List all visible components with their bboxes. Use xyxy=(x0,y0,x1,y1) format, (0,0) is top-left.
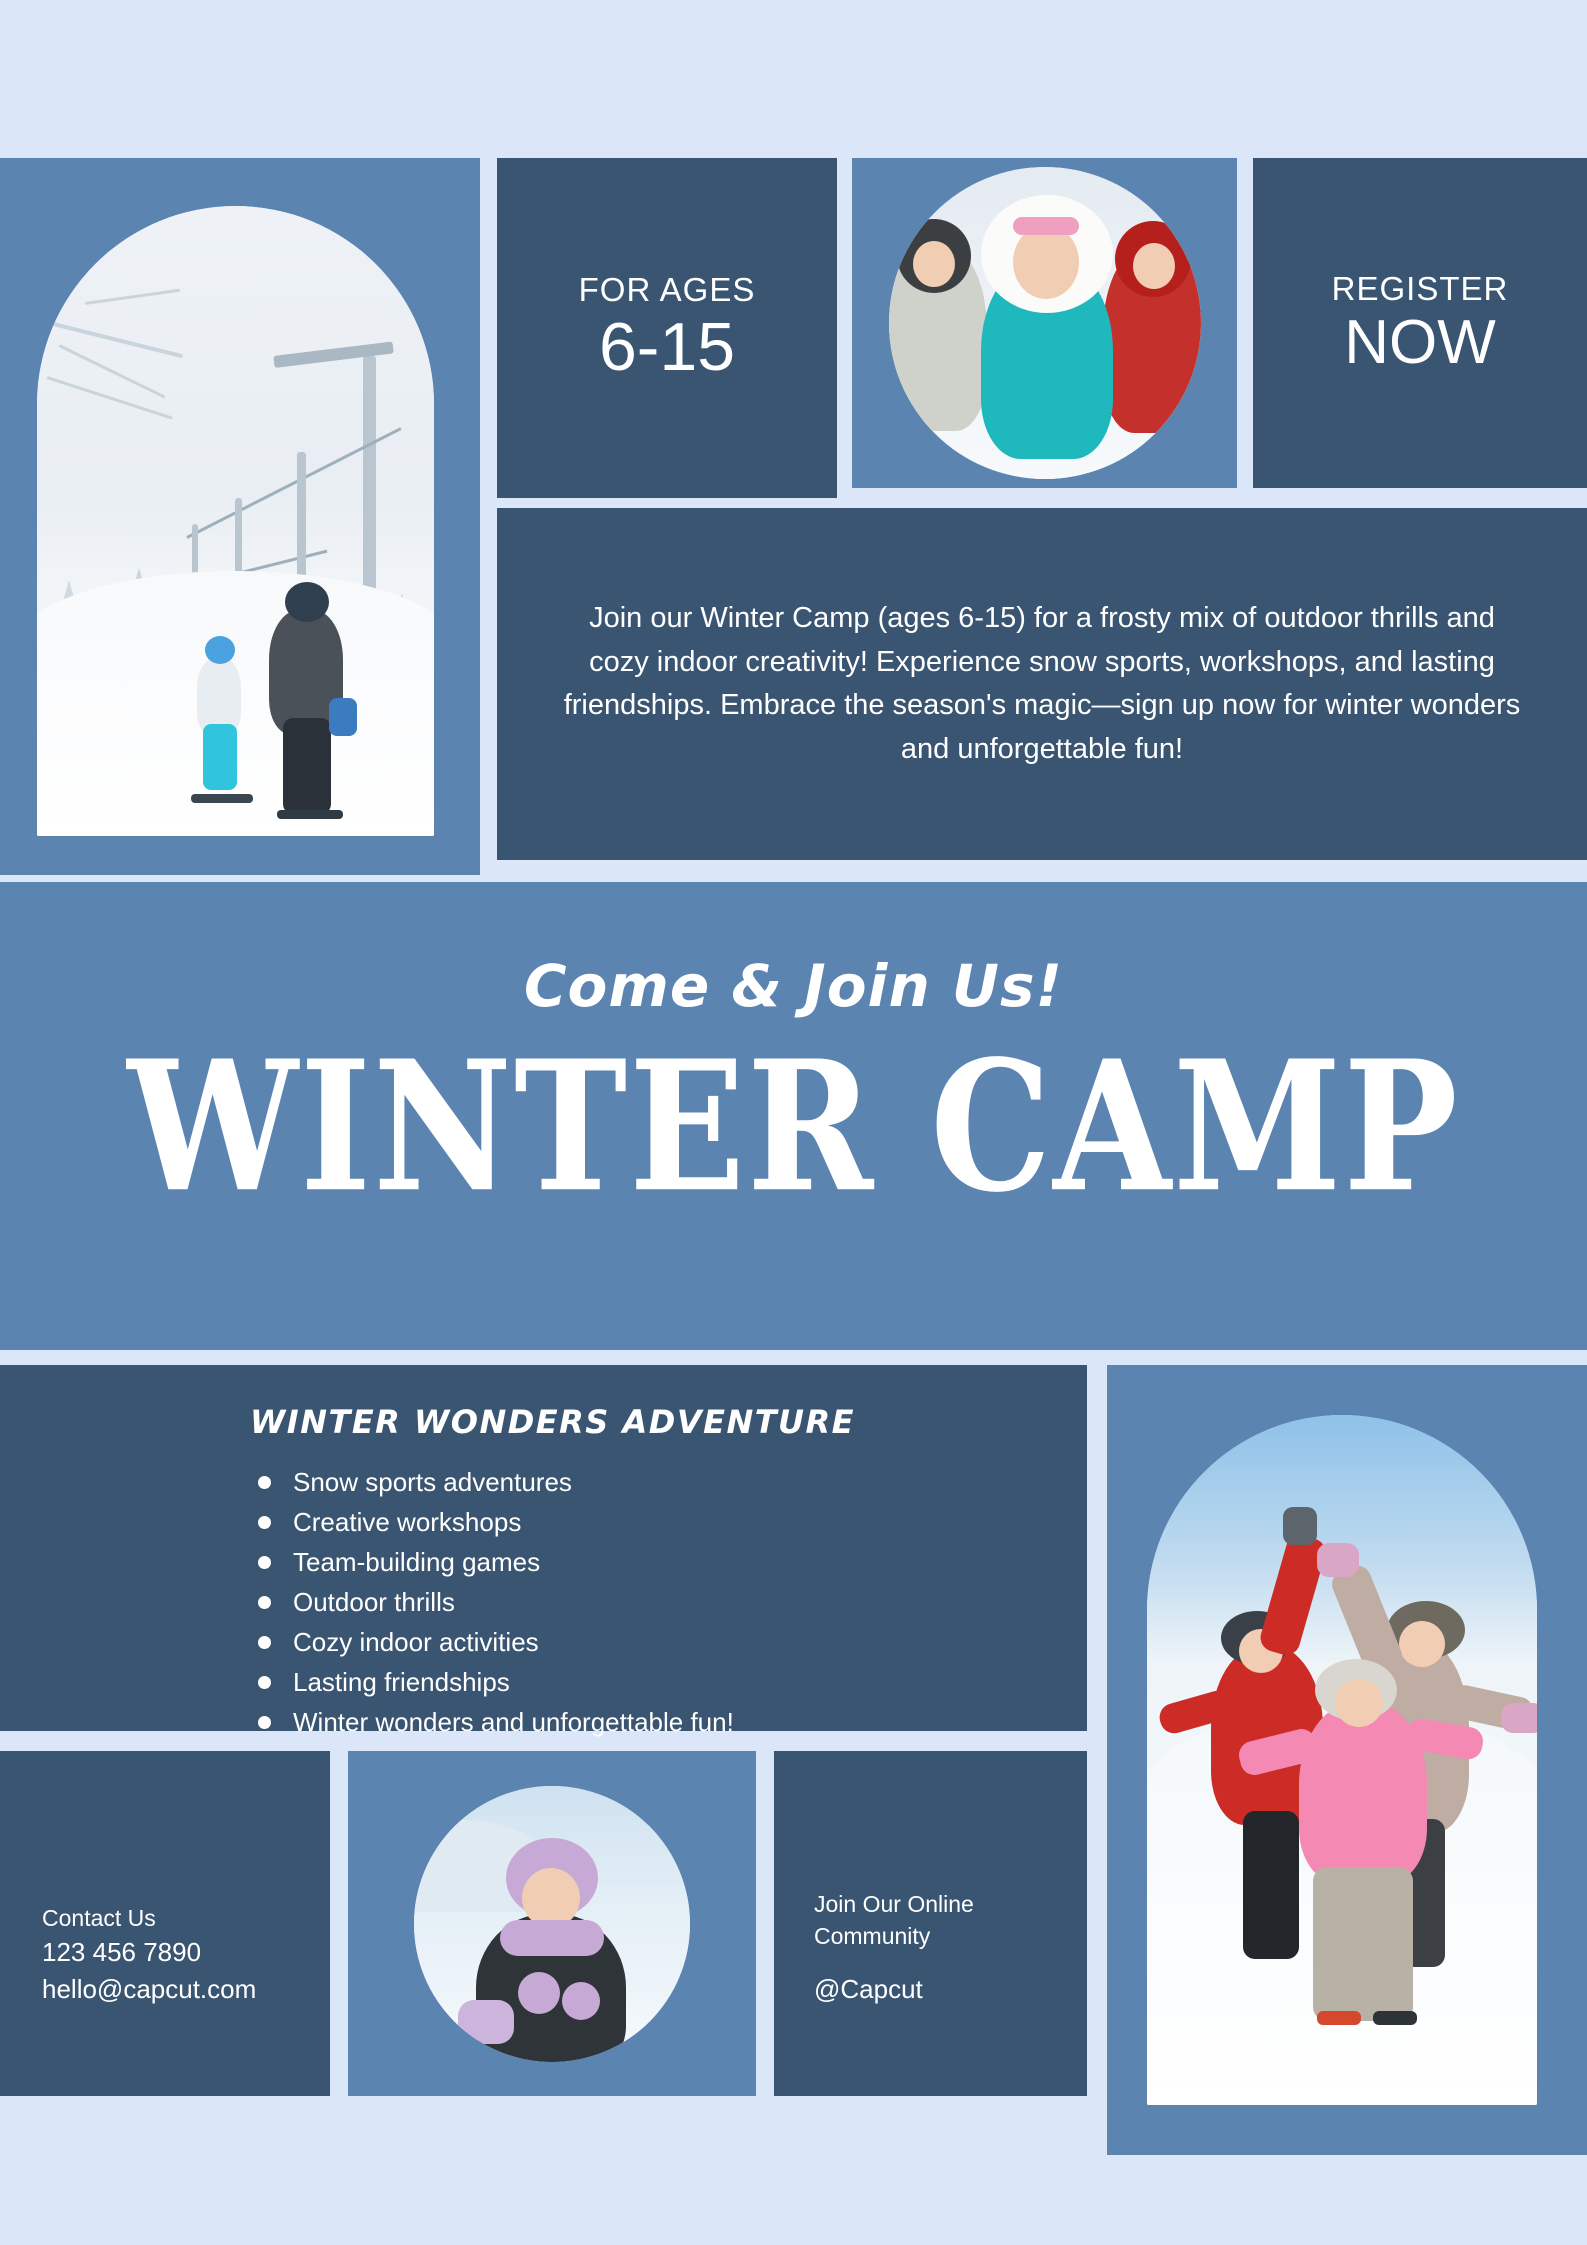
ski-lift-photo xyxy=(37,206,434,836)
list-item-label: Creative workshops xyxy=(293,1509,521,1535)
list-item: Snow sports adventures xyxy=(258,1469,734,1495)
kids-photo-card xyxy=(852,158,1237,488)
list-item: Lasting friendships xyxy=(258,1669,734,1695)
bullet-icon xyxy=(258,1556,271,1569)
kids-playing-photo-card xyxy=(1107,1365,1587,2155)
community-title: Join Our Online Community xyxy=(814,1888,1014,1953)
register-now-card[interactable]: REGISTER NOW xyxy=(1253,158,1587,488)
for-ages-label: FOR AGES xyxy=(579,272,756,308)
description-card: Join our Winter Camp (ages 6-15) for a f… xyxy=(497,508,1587,860)
bullet-icon xyxy=(258,1596,271,1609)
list-item: Team-building games xyxy=(258,1549,734,1575)
bullet-icon xyxy=(258,1716,271,1729)
girl-circle-photo xyxy=(414,1786,690,2062)
for-ages-card: FOR AGES 6-15 xyxy=(497,158,837,498)
register-label: REGISTER xyxy=(1332,271,1509,307)
list-item-label: Winter wonders and unforgettable fun! xyxy=(293,1709,734,1735)
contact-email[interactable]: hello@capcut.com xyxy=(42,1971,256,2008)
list-item: Cozy indoor activities xyxy=(258,1629,734,1655)
list-item-label: Lasting friendships xyxy=(293,1669,510,1695)
contact-block: Contact Us 123 456 7890 hello@capcut.com xyxy=(42,1902,256,2008)
bullet-icon xyxy=(258,1676,271,1689)
community-card: Join Our Online Community @Capcut xyxy=(774,1751,1087,2096)
list-item: Creative workshops xyxy=(258,1509,734,1535)
list-item: Outdoor thrills xyxy=(258,1589,734,1615)
kids-playing-photo xyxy=(1147,1415,1537,2105)
adventure-list-card: WINTER WONDERS ADVENTURE Snow sports adv… xyxy=(0,1365,1087,1731)
adventure-list: Snow sports adventures Creative workshop… xyxy=(258,1469,734,1749)
hero-script-line: Come & Join Us! xyxy=(0,952,1587,1020)
hero-band: Come & Join Us! WINTER CAMP xyxy=(0,882,1587,1350)
contact-phone[interactable]: 123 456 7890 xyxy=(42,1934,256,1971)
list-item: Winter wonders and unforgettable fun! xyxy=(258,1709,734,1735)
community-handle[interactable]: @Capcut xyxy=(814,1971,1014,2008)
community-block: Join Our Online Community @Capcut xyxy=(814,1888,1014,2008)
girl-photo-card xyxy=(348,1751,756,2096)
list-item-label: Outdoor thrills xyxy=(293,1589,455,1615)
contact-title: Contact Us xyxy=(42,1902,256,1935)
bullet-icon xyxy=(258,1476,271,1489)
adventure-heading: WINTER WONDERS ADVENTURE xyxy=(250,1403,855,1441)
register-value: NOW xyxy=(1344,310,1496,375)
winter-camp-poster: FOR AGES 6-15 REGISTER NOW Join our Wint… xyxy=(0,0,1587,2245)
description-text: Join our Winter Camp (ages 6-15) for a f… xyxy=(562,597,1522,771)
for-ages-value: 6-15 xyxy=(599,312,735,383)
top-left-photo-card xyxy=(0,158,480,875)
kids-circle-photo xyxy=(889,167,1201,479)
list-item-label: Snow sports adventures xyxy=(293,1469,572,1495)
bullet-icon xyxy=(258,1516,271,1529)
contact-card: Contact Us 123 456 7890 hello@capcut.com xyxy=(0,1751,330,2096)
bullet-icon xyxy=(258,1636,271,1649)
list-item-label: Cozy indoor activities xyxy=(293,1629,539,1655)
list-item-label: Team-building games xyxy=(293,1549,540,1575)
page-title: WINTER CAMP xyxy=(0,1030,1587,1224)
